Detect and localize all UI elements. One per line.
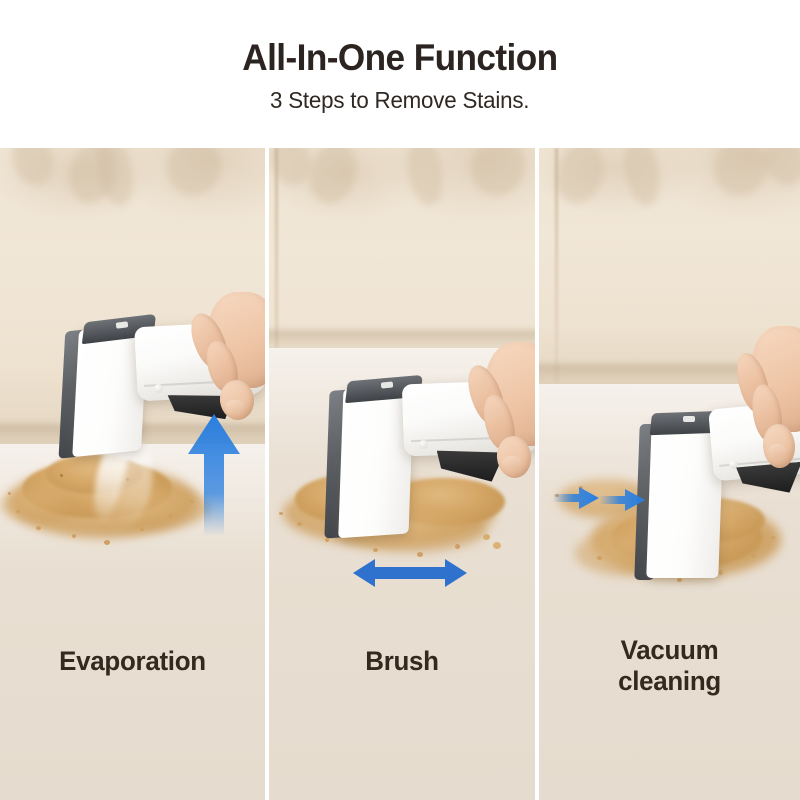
- infographic-page: All-In-One Function 3 Steps to Remove St…: [0, 0, 800, 800]
- device-button[interactable]: [419, 440, 428, 449]
- steps-strip: Evaporation: [0, 148, 800, 800]
- cushion-seam: [555, 148, 558, 384]
- device-button[interactable]: [154, 384, 163, 393]
- hand-holding-device: [465, 336, 535, 486]
- hand-holding-device: [186, 288, 265, 428]
- caption-line-2: cleaning: [544, 666, 795, 697]
- page-title: All-In-One Function: [242, 38, 557, 78]
- page-subtitle: 3 Steps to Remove Stains.: [270, 87, 529, 114]
- suction-arrow-icon-2: [599, 488, 645, 512]
- device-indicator: [381, 381, 393, 388]
- panel-caption-evaporation: Evaporation: [5, 646, 259, 677]
- panel-evaporation[interactable]: Evaporation: [0, 148, 265, 800]
- header-block: All-In-One Function 3 Steps to Remove St…: [0, 0, 800, 148]
- panel-caption-vacuum-cleaning: Vacuum cleaning: [544, 635, 795, 697]
- double-arrow-icon: [351, 556, 469, 590]
- caption-line-1: Vacuum: [544, 635, 795, 666]
- up-arrow-icon: [178, 410, 250, 540]
- panel-vacuum-cleaning[interactable]: Vacuum cleaning: [539, 148, 800, 800]
- panel-caption-brush: Brush: [274, 646, 529, 677]
- panel-brush[interactable]: Brush: [269, 148, 535, 800]
- suction-arrow-icon-1: [553, 486, 599, 510]
- hand-holding-device: [735, 318, 800, 478]
- device-indicator: [683, 416, 695, 422]
